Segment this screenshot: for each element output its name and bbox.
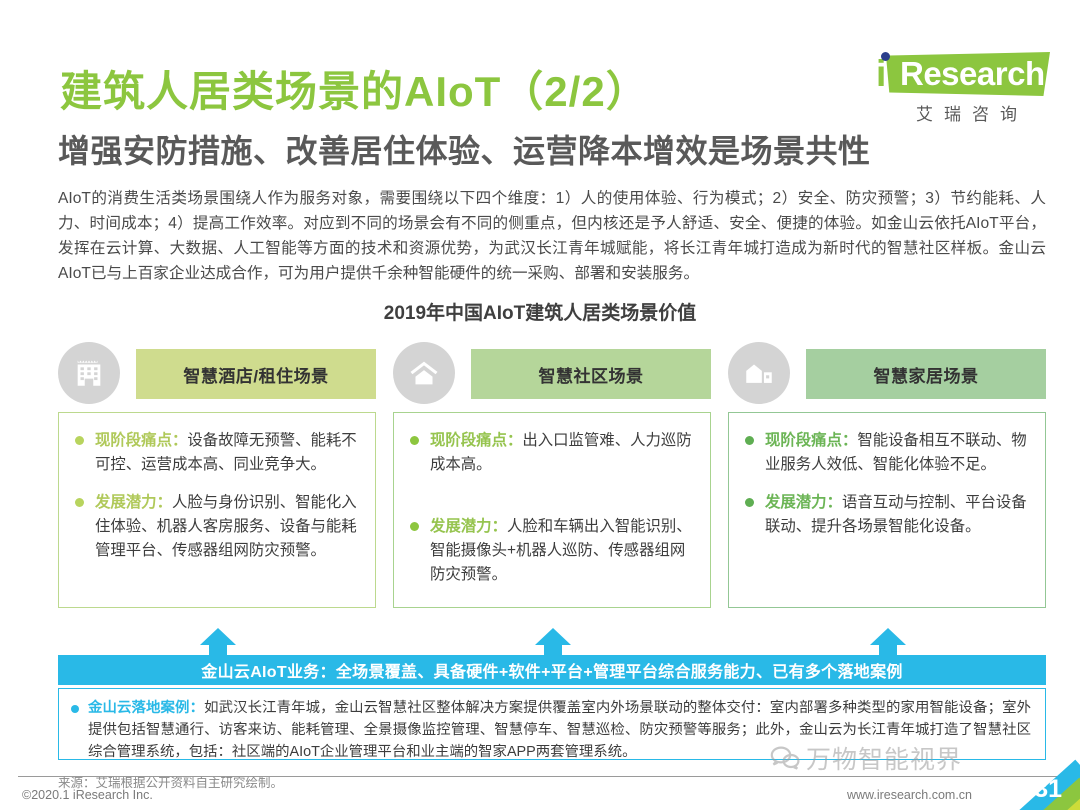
logo-wordmark: Research xyxy=(900,55,1045,93)
bullet-label: 发展潜力： xyxy=(95,494,172,511)
scenario-column-smarthome: 智慧家居场景 现阶段痛点：智能设备相互不联动、物业服务人效低、智能化体验不足。 … xyxy=(728,342,1046,608)
column-body: 现阶段痛点：设备故障无预警、能耗不可控、运营成本高、同业竞争大。 发展潜力：人脸… xyxy=(58,412,376,608)
bullet-dot-icon xyxy=(75,436,84,445)
bullet-label: 现阶段痛点： xyxy=(430,432,522,449)
page-subtitle: 增强安防措施、改善居住体验、运营降本增效是场景共性 xyxy=(58,126,871,172)
bullet-label: 发展潜力： xyxy=(430,518,507,535)
column-header: 智慧社区场景 xyxy=(393,342,711,408)
footer-divider xyxy=(18,776,1062,777)
scenario-column-hotel: 智慧酒店/租住场景 现阶段痛点：设备故障无预警、能耗不可控、运营成本高、同业竞争… xyxy=(58,342,376,608)
column-header: 智慧家居场景 xyxy=(728,342,1046,408)
column-body: 现阶段痛点：智能设备相互不联动、物业服务人效低、智能化体验不足。 发展潜力：语音… xyxy=(728,412,1046,608)
bullet-item: 发展潜力：人脸与身份识别、智能化入住体验、机器人客房服务、设备与能耗管理平台、传… xyxy=(71,491,361,563)
intro-paragraph: AIoT的消费生活类场景围绕人作为服务对象，需要围绕以下四个维度：1）人的使用体… xyxy=(58,186,1046,286)
bullet-dot-icon xyxy=(745,498,754,507)
bullet-dot-icon xyxy=(410,436,419,445)
bullet-label: 发展潜力： xyxy=(765,494,842,511)
bullet-item: 发展潜力：人脸和车辆出入智能识别、智能摄像头+机器人巡防、传感器组网防灾预警。 xyxy=(406,515,696,587)
bullet-item: 现阶段痛点：智能设备相互不联动、物业服务人效低、智能化体验不足。 xyxy=(741,429,1031,477)
logo-mark: i Research xyxy=(858,48,1058,100)
bullet-text: 发展潜力：人脸和车辆出入智能识别、智能摄像头+机器人巡防、传感器组网防灾预警。 xyxy=(430,515,696,587)
watermark-text: 万物智能视界 xyxy=(806,740,962,776)
bullet-text: 发展潜力：人脸与身份识别、智能化入住体验、机器人客房服务、设备与能耗管理平台、传… xyxy=(95,491,361,563)
bullet-text: 现阶段痛点：出入口监管难、人力巡防成本高。 xyxy=(430,429,696,477)
scenario-columns: 智慧酒店/租住场景 现阶段痛点：设备故障无预警、能耗不可控、运营成本高、同业竞争… xyxy=(58,342,1046,627)
house-roof-icon xyxy=(393,342,455,404)
bullet-dot-icon xyxy=(71,705,79,713)
bullet-dot-icon xyxy=(75,498,84,507)
logo-dot-icon xyxy=(881,52,890,61)
bullet-label: 现阶段痛点： xyxy=(765,432,857,449)
bullet-text: 现阶段痛点：设备故障无预警、能耗不可控、运营成本高、同业竞争大。 xyxy=(95,429,361,477)
wechat-icon xyxy=(770,745,800,771)
column-header-label: 智慧酒店/租住场景 xyxy=(136,349,376,399)
watermark: 万物智能视界 xyxy=(770,740,962,776)
iresearch-logo: i Research 艾瑞咨询 xyxy=(858,48,1058,128)
bullet-text: 现阶段痛点：智能设备相互不联动、物业服务人效低、智能化体验不足。 xyxy=(765,429,1031,477)
page-title: 建筑人居类场景的AIoT（2/2） xyxy=(60,58,649,119)
case-study-label: 金山云落地案例： xyxy=(88,700,204,716)
chart-title: 2019年中国AIoT建筑人居类场景价值 xyxy=(0,298,1080,325)
bullet-item: 现阶段痛点：设备故障无预警、能耗不可控、运营成本高、同业竞争大。 xyxy=(71,429,361,477)
page-number: 31 xyxy=(1034,775,1062,804)
bullet-dot-icon xyxy=(410,522,419,531)
bullet-dot-icon xyxy=(745,436,754,445)
footer-website: www.iresearch.com.cn xyxy=(847,788,972,802)
smart-home-icon xyxy=(728,342,790,404)
hotel-building-icon xyxy=(58,342,120,404)
bullet-label: 现阶段痛点： xyxy=(95,432,187,449)
bullet-item: 现阶段痛点：出入口监管难、人力巡防成本高。 xyxy=(406,429,696,477)
column-header: 智慧酒店/租住场景 xyxy=(58,342,376,408)
footer-copyright: ©2020.1 iResearch Inc. xyxy=(22,788,153,802)
aiot-business-banner: 金山云AIoT业务：全场景覆盖、具备硬件+软件+平台+管理平台综合服务能力、已有… xyxy=(58,655,1046,685)
column-header-label: 智慧家居场景 xyxy=(806,349,1046,399)
logo-chinese-name: 艾瑞咨询 xyxy=(892,100,1052,125)
scenario-column-community: 智慧社区场景 现阶段痛点：出入口监管难、人力巡防成本高。 发展潜力：人脸和车辆出… xyxy=(393,342,711,608)
column-body: 现阶段痛点：出入口监管难、人力巡防成本高。 发展潜力：人脸和车辆出入智能识别、智… xyxy=(393,412,711,608)
bullet-item: 发展潜力：语音互动与控制、平台设备联动、提升各场景智能化设备。 xyxy=(741,491,1031,539)
column-header-label: 智慧社区场景 xyxy=(471,349,711,399)
bullet-text: 发展潜力：语音互动与控制、平台设备联动、提升各场景智能化设备。 xyxy=(765,491,1031,539)
